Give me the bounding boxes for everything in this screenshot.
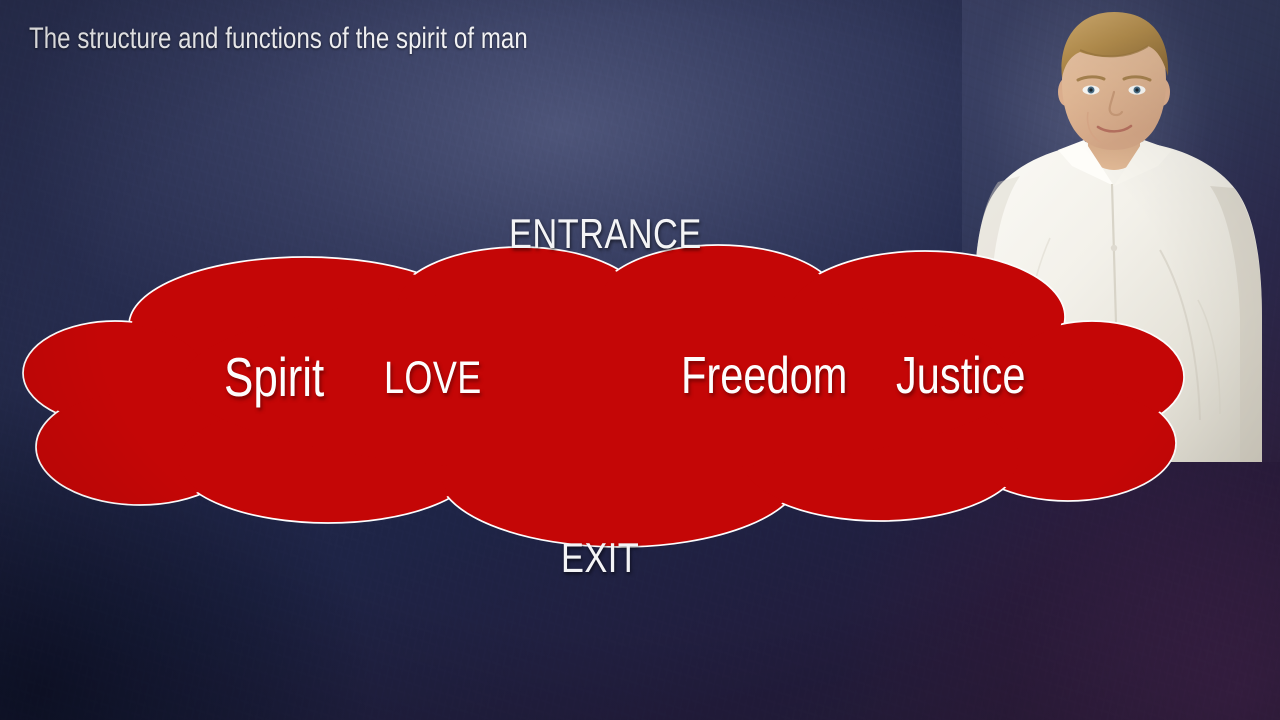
pupil-right xyxy=(1135,88,1138,91)
page-title: The structure and functions of the spiri… xyxy=(29,22,528,56)
entrance-label: ENTRANCE xyxy=(509,210,702,258)
cloud-word-freedom: Freedom xyxy=(681,346,847,406)
slide-canvas: The structure and functions of the spiri… xyxy=(0,0,1280,720)
cloud-word-justice: Justice xyxy=(896,346,1025,406)
cloud-word-love: LOVE xyxy=(384,352,482,404)
pupil-left xyxy=(1089,88,1092,91)
exit-label: EXIT xyxy=(561,534,639,582)
cloud-word-spirit: Spirit xyxy=(224,345,324,409)
